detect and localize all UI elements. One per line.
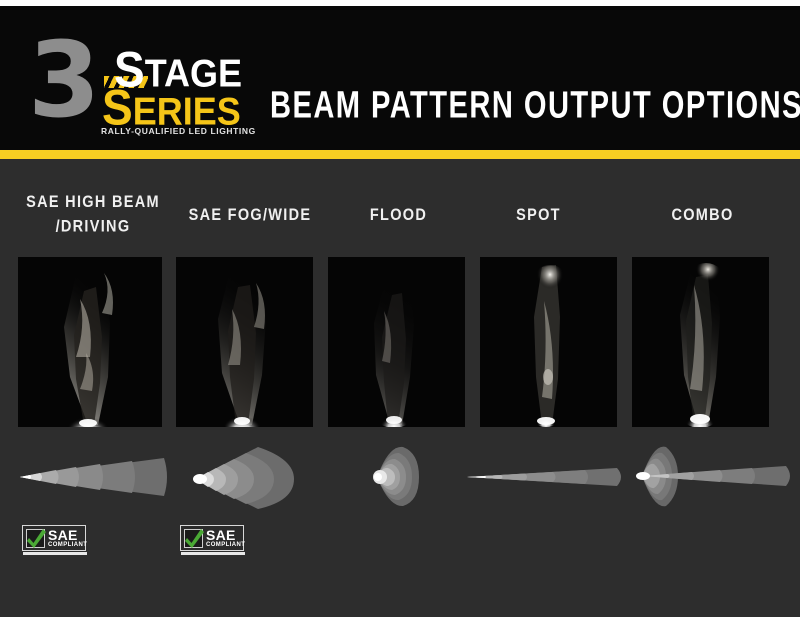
logo-word-series: SERIES <box>102 88 241 131</box>
beam-shape-wide <box>182 445 314 509</box>
compliant-label: COMPLIANT <box>206 542 245 549</box>
page-title: BEAM PATTERN OUTPUT OPTIONS <box>270 84 800 128</box>
beam-shape-flood <box>365 443 437 509</box>
content-area: SAE HIGH BEAM /DRIVING SAE FOG/WIDE FLOO… <box>0 159 800 617</box>
beam-diagram-flood <box>365 443 437 509</box>
beam-diagram-sae-fog-wide <box>182 445 314 509</box>
beam-shape-driving <box>14 447 170 507</box>
beam-photo-sae-fog-wide <box>176 257 313 427</box>
photo-night-road-fog-wide <box>176 257 313 427</box>
sae-label: SAE <box>48 528 78 542</box>
beam-diagram-combo <box>628 441 794 511</box>
photo-night-road-flood <box>328 257 465 427</box>
column-label-flood: FLOOD <box>332 204 465 228</box>
green-check-icon <box>26 527 47 551</box>
logo-numeral-3: 3 <box>28 28 96 132</box>
sae-label: SAE <box>206 528 236 542</box>
yellow-divider-bar <box>0 150 800 159</box>
green-check-icon <box>184 527 205 551</box>
photo-night-road-spot <box>480 257 617 427</box>
beam-shape-spot <box>463 457 627 497</box>
beam-photo-sae-high-beam-driving <box>18 257 162 427</box>
logo-word-stage: STAGE <box>114 50 242 93</box>
beam-photo-flood <box>328 257 465 427</box>
checkmark-box <box>184 529 203 548</box>
beam-pattern-infographic: 3 STAGE SERIES RALLY-QUALIFIED LED LIGHT… <box>0 0 800 622</box>
beam-photo-combo <box>632 257 769 427</box>
column-label-spot: SPOT <box>466 204 611 228</box>
beam-diagram-sae-high-beam-driving <box>14 447 170 507</box>
logo-tagline: RALLY-QUALIFIED LED LIGHTING <box>101 126 256 136</box>
badge-underline <box>23 552 87 555</box>
beam-shape-combo <box>628 441 794 511</box>
column-label-sae-fog-wide: SAE FOG/WIDE <box>175 204 325 228</box>
beam-photo-spot <box>480 257 617 427</box>
stage-series-logo: 3 STAGE SERIES RALLY-QUALIFIED LED LIGHT… <box>28 28 243 133</box>
column-label-combo: COMBO <box>625 204 780 228</box>
checkmark-box <box>26 529 45 548</box>
header-bar: 3 STAGE SERIES RALLY-QUALIFIED LED LIGHT… <box>0 6 800 150</box>
bottom-white-strip <box>0 617 800 622</box>
sae-compliant-badge-driving: SAE COMPLIANT <box>22 525 86 551</box>
compliant-label: COMPLIANT <box>48 542 87 549</box>
photo-night-road-driving <box>18 257 162 427</box>
sae-compliant-badge-fog-wide: SAE COMPLIANT <box>180 525 244 551</box>
column-label-sae-high-beam-driving: SAE HIGH BEAM /DRIVING <box>18 191 168 240</box>
beam-diagram-spot <box>463 457 627 497</box>
photo-night-road-combo <box>632 257 769 427</box>
badge-underline <box>181 552 245 555</box>
